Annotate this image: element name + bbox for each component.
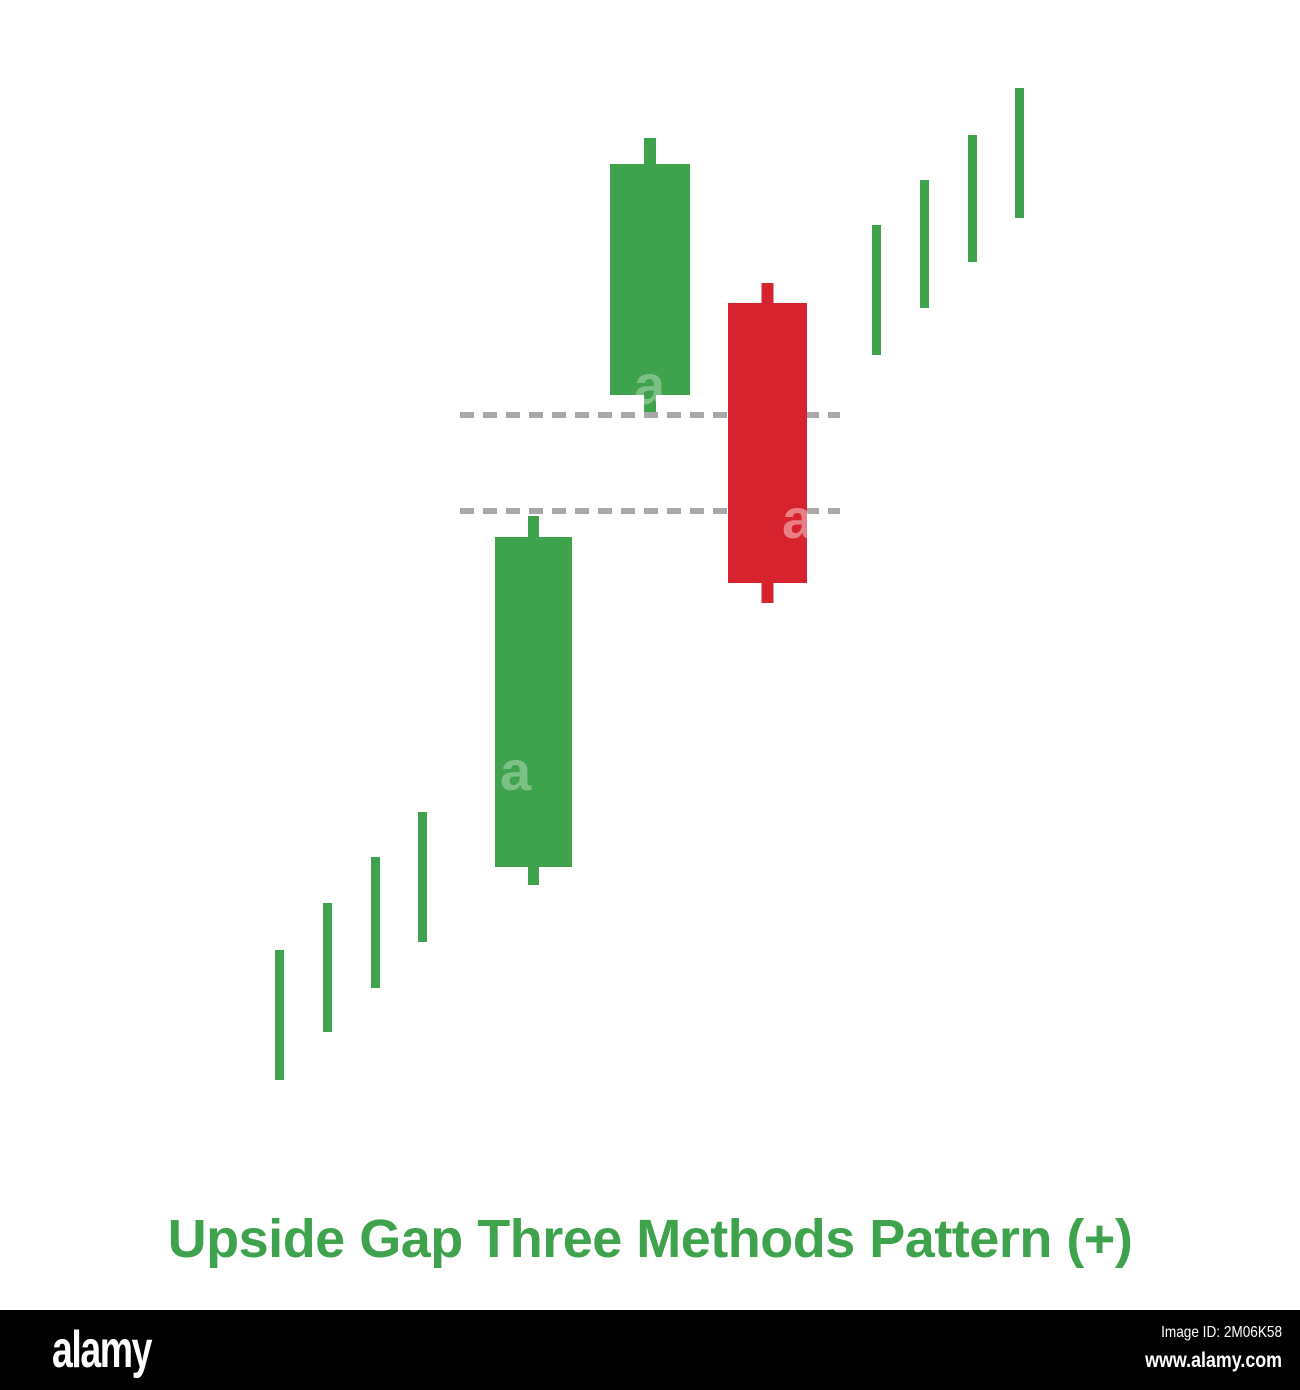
image-id-label: Image ID: 2M06K58 — [1145, 1320, 1282, 1346]
chart-title: Upside Gap Three Methods Pattern (+) — [0, 1207, 1300, 1271]
alamy-ghost-watermark-3: a — [782, 487, 814, 550]
alamy-ghost-watermark-2: a — [634, 353, 666, 416]
alamy-url-label: www.alamy.com — [1145, 1346, 1282, 1376]
trail-bar-3 — [968, 135, 977, 262]
leading-bars-group — [275, 812, 427, 1080]
trail-bar-4 — [1015, 88, 1024, 218]
trailing-bars-group — [872, 88, 1024, 355]
watermark-meta: Image ID: 2M06K58 www.alamy.com — [1121, 1320, 1282, 1376]
lead-bar-1 — [275, 950, 284, 1080]
candle-first-long-white: a — [495, 516, 572, 885]
candlestick-pattern-page: a a a Upside Gap Three M — [0, 0, 1300, 1390]
lead-bar-4 — [418, 812, 427, 942]
lead-bar-3 — [371, 857, 380, 988]
candle-second-white-gap-up: a — [610, 138, 690, 416]
alamy-watermark-bar: alamy Image ID: 2M06K58 www.alamy.com — [0, 1310, 1300, 1390]
alamy-logo: alamy — [52, 1322, 151, 1378]
candle-black-filling-gap: a — [728, 283, 814, 603]
trail-bar-2 — [920, 180, 929, 308]
alamy-ghost-watermark-1: a — [500, 739, 532, 802]
candle-body-first-long-white — [495, 537, 572, 867]
lead-bar-2 — [323, 903, 332, 1032]
candlestick-chart: a a a — [0, 0, 1300, 1310]
chart-canvas: a a a — [0, 0, 1300, 1310]
trail-bar-1 — [872, 225, 881, 355]
